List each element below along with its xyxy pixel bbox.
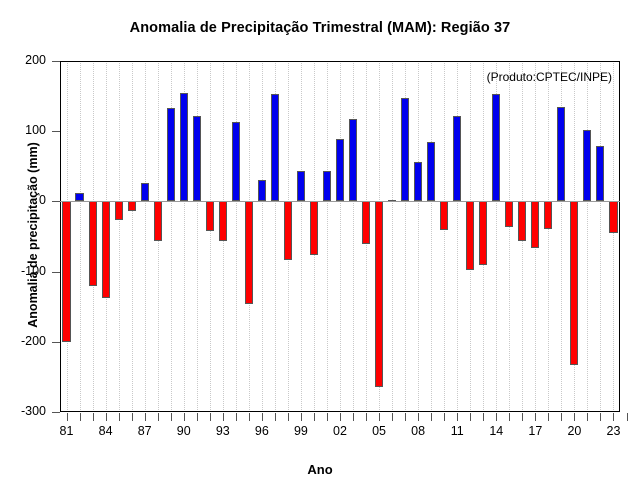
x-tick [444, 413, 445, 421]
bar-87 [141, 183, 149, 201]
y-tick [52, 61, 60, 62]
bar-01 [323, 171, 331, 201]
x-tick [171, 413, 172, 421]
x-tick [197, 413, 198, 421]
x-tick [418, 413, 419, 421]
x-tick-label: 84 [86, 424, 126, 438]
bar-03 [349, 119, 357, 201]
x-tick [184, 413, 185, 421]
x-tick [210, 413, 211, 421]
y-tick-label: 200 [0, 53, 46, 67]
bar-95 [245, 201, 253, 303]
x-tick [288, 413, 289, 421]
bar-21 [583, 130, 591, 202]
x-tick [93, 413, 94, 421]
x-tick [587, 413, 588, 421]
x-tick [249, 413, 250, 421]
bar-22 [596, 146, 604, 201]
x-tick [496, 413, 497, 421]
y-tick [52, 272, 60, 273]
x-tick [340, 413, 341, 421]
bar-89 [167, 108, 175, 201]
x-tick [431, 413, 432, 421]
bar-19 [557, 107, 565, 202]
bar-84 [102, 201, 110, 297]
bar-09 [427, 142, 435, 201]
x-tick [80, 413, 81, 421]
y-tick [52, 131, 60, 132]
x-tick [119, 413, 120, 421]
bar-82 [75, 193, 83, 201]
x-tick [262, 413, 263, 421]
bar-88 [154, 201, 162, 241]
x-tick-label: 23 [593, 424, 633, 438]
x-tick [379, 413, 380, 421]
bar-90 [180, 93, 188, 202]
bar-98 [284, 201, 292, 259]
x-tick-label: 08 [398, 424, 438, 438]
x-tick [314, 413, 315, 421]
bar-07 [401, 98, 409, 201]
x-tick [132, 413, 133, 421]
y-tick-label: -300 [0, 404, 46, 418]
x-tick-label: 81 [47, 424, 87, 438]
bar-96 [258, 180, 266, 201]
x-tick [392, 413, 393, 421]
x-tick [457, 413, 458, 421]
x-tick [106, 413, 107, 421]
x-tick-label: 14 [476, 424, 516, 438]
x-tick [561, 413, 562, 421]
bar-23 [609, 201, 617, 233]
bar-04 [362, 201, 370, 243]
x-tick [600, 413, 601, 421]
x-tick-label: 87 [125, 424, 165, 438]
x-tick-label: 99 [281, 424, 321, 438]
x-tick-label: 11 [437, 424, 477, 438]
y-tick [52, 412, 60, 413]
bar-08 [414, 162, 422, 201]
bar-94 [232, 122, 240, 201]
x-tick [405, 413, 406, 421]
bar-10 [440, 201, 448, 230]
x-tick [548, 413, 549, 421]
y-tick [52, 342, 60, 343]
x-tick [67, 413, 68, 421]
x-tick [574, 413, 575, 421]
x-axis-label: Ano [0, 462, 640, 477]
x-tick [236, 413, 237, 421]
bar-05 [375, 201, 383, 387]
bar-81 [62, 201, 70, 342]
x-tick [366, 413, 367, 421]
x-tick-label: 17 [515, 424, 555, 438]
x-tick [223, 413, 224, 421]
y-tick [52, 201, 60, 202]
x-tick-label: 90 [164, 424, 204, 438]
x-tick [535, 413, 536, 421]
x-tick [613, 413, 614, 421]
bar-15 [505, 201, 513, 227]
bar-99 [297, 171, 305, 202]
bar-13 [479, 201, 487, 265]
bar-93 [219, 201, 227, 241]
x-tick [327, 413, 328, 421]
x-tick-label: 20 [554, 424, 594, 438]
y-axis-label: Anomalia de precipitação (mm) [26, 110, 40, 360]
bar-97 [271, 94, 279, 201]
x-tick-label: 02 [320, 424, 360, 438]
bar-14 [492, 94, 500, 201]
x-tick [509, 413, 510, 421]
x-tick-label: 96 [242, 424, 282, 438]
x-tick [483, 413, 484, 421]
x-tick-label: 05 [359, 424, 399, 438]
bar-91 [193, 116, 201, 202]
x-tick [301, 413, 302, 421]
bar-83 [89, 201, 97, 285]
bar-20 [570, 201, 578, 365]
x-tick-label: 93 [203, 424, 243, 438]
bar-12 [466, 201, 474, 270]
bar-00 [310, 201, 318, 255]
bar-17 [531, 201, 539, 247]
bar-86 [128, 201, 136, 211]
source-note: (Produto:CPTEC/INPE) [487, 70, 612, 84]
x-tick [158, 413, 159, 421]
bar-11 [453, 116, 461, 202]
bar-18 [544, 201, 552, 229]
x-tick [522, 413, 523, 421]
chart-root: Anomalia de Precipitação Trimestral (MAM… [0, 0, 640, 500]
x-tick [627, 413, 628, 421]
bar-85 [115, 201, 123, 220]
x-tick [275, 413, 276, 421]
x-tick [145, 413, 146, 421]
bar-92 [206, 201, 214, 230]
x-tick [353, 413, 354, 421]
bar-02 [336, 139, 344, 201]
chart-title: Anomalia de Precipitação Trimestral (MAM… [0, 20, 640, 36]
zero-baseline [60, 201, 620, 202]
bar-16 [518, 201, 526, 241]
x-tick [470, 413, 471, 421]
